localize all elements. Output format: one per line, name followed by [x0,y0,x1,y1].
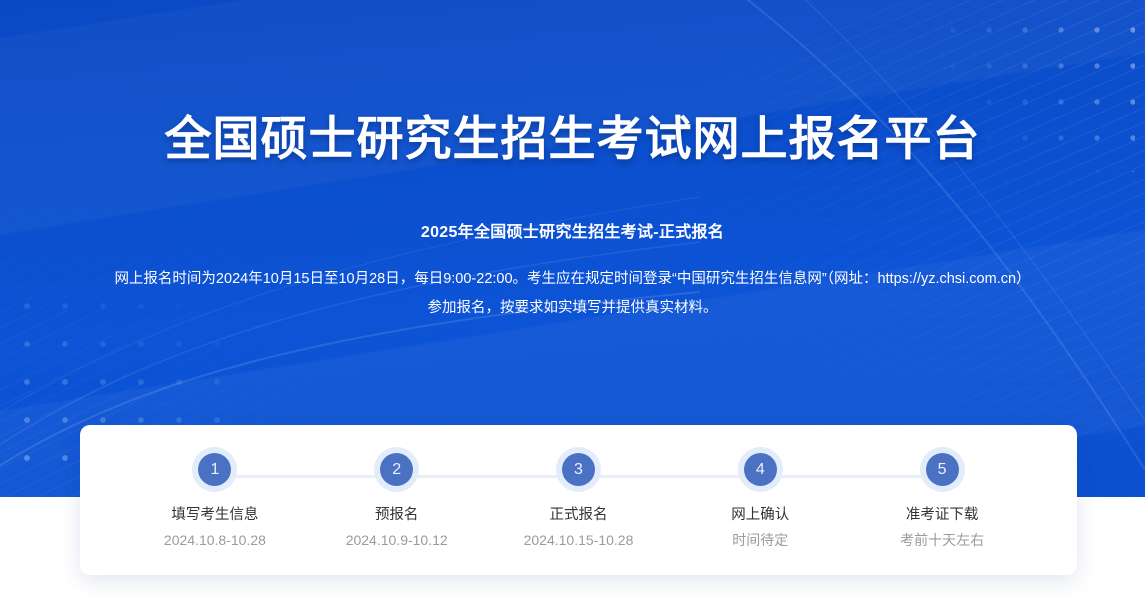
step-label-5: 准考证下载 [851,506,1033,525]
page-subtitle: 2025年全国硕士研究生招生考试-正式报名 [0,166,1145,242]
step-number-badge-2[interactable]: 2 [380,453,413,486]
step-number-badge-4[interactable]: 4 [744,453,777,486]
step-date-4: 时间待定 [669,531,851,549]
step-date-1: 2024.10.8-10.28 [124,531,306,549]
step-number-badge-5[interactable]: 5 [926,453,959,486]
registration-steps-card: 1 填写考生信息 2024.10.8-10.28 2 预报名 2024.10.9… [80,425,1077,575]
step-label-1: 填写考生信息 [124,506,306,525]
step-item-1[interactable]: 1 填写考生信息 2024.10.8-10.28 [124,425,306,549]
step-connector-4 [760,475,942,478]
step-label-4: 网上确认 [669,506,851,525]
step-number-badge-3[interactable]: 3 [562,453,595,486]
hero-text-block: 全国硕士研究生招生考试网上报名平台 2025年全国硕士研究生招生考试-正式报名 … [0,0,1145,323]
page-title: 全国硕士研究生招生考试网上报名平台 [0,0,1145,166]
step-date-3: 2024.10.15-10.28 [488,531,670,549]
steps-list: 1 填写考生信息 2024.10.8-10.28 2 预报名 2024.10.9… [80,425,1077,575]
step-connector-2 [397,475,579,478]
step-connector-3 [578,475,760,478]
step-item-4[interactable]: 4 网上确认 时间待定 [669,425,851,549]
step-number-badge-1[interactable]: 1 [198,453,231,486]
step-date-2: 2024.10.9-10.12 [306,531,488,549]
registration-notice-text: 网上报名时间为2024年10月15日至10月28日，每日9:00-22:00。考… [108,242,1038,323]
step-item-3[interactable]: 3 正式报名 2024.10.15-10.28 [488,425,670,549]
step-label-3: 正式报名 [488,506,670,525]
step-item-5[interactable]: 5 准考证下载 考前十天左右 [851,425,1033,549]
page-root: 全国硕士研究生招生考试网上报名平台 2025年全国硕士研究生招生考试-正式报名 … [0,0,1145,600]
step-connector-1 [215,475,397,478]
step-item-2[interactable]: 2 预报名 2024.10.9-10.12 [306,425,488,549]
step-date-5: 考前十天左右 [851,531,1033,549]
step-label-2: 预报名 [306,506,488,525]
